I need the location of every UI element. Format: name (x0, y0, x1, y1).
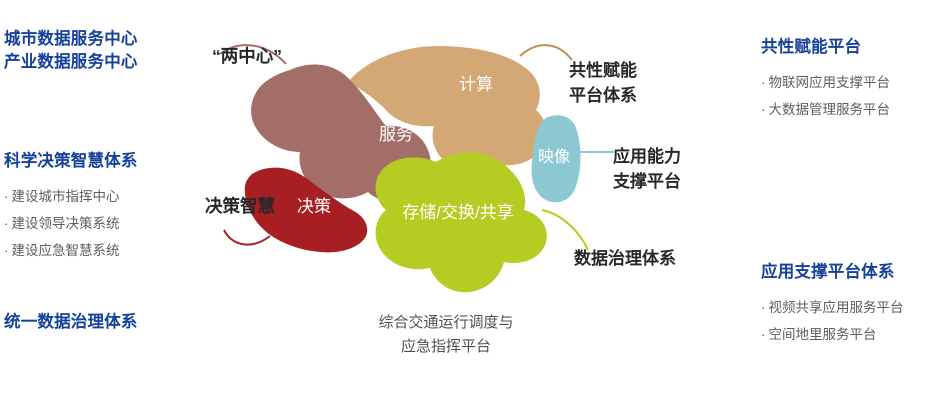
left-column-unified-governance: 统一数据治理体系 (4, 311, 138, 334)
list-item-label: 空间地里服务平台 (769, 327, 877, 342)
list-item: ·建设领导决策系统 (4, 210, 138, 237)
diagram-caption: 综合交通运行调度与 应急指挥平台 (330, 311, 562, 359)
connector-line-compute (520, 45, 572, 60)
bullet-list-enabling: ·物联网应用支撑平台 ·大数据管理服务平台 (761, 69, 890, 123)
list-item: ·视频共享应用服务平台 (761, 294, 904, 321)
callout-decision-wisdom: 决策智慧 (205, 194, 275, 219)
diagram-canvas: 城市数据服务中心 产业数据服务中心 科学决策智慧体系 ·建设城市指挥中心 ·建设… (0, 0, 933, 420)
right-column-app-support-platform: 应用支撑平台体系 ·视频共享应用服务平台 ·空间地里服务平台 (761, 261, 904, 348)
brain-lobe-label-service: 服务 (379, 125, 413, 144)
list-item-label: 建设应急智慧系统 (12, 243, 120, 258)
bullet-dot-icon: · (4, 216, 9, 231)
callout-app-capability-platform: 应用能力 支撑平台 (613, 144, 681, 194)
brain-lobe-label-image: 映像 (538, 148, 570, 166)
list-item-label: 建设城市指挥中心 (12, 189, 120, 204)
heading-app-support-platform-system: 应用支撑平台体系 (761, 261, 904, 284)
brain-lobe-storage[interactable] (376, 153, 547, 293)
caption-line: 应急指挥平台 (330, 335, 562, 359)
left-column-data-centers: 城市数据服务中心 产业数据服务中心 (4, 28, 138, 74)
bullet-dot-icon: · (761, 102, 766, 117)
heading-scientific-decision-system: 科学决策智慧体系 (4, 150, 138, 173)
heading-unified-data-governance: 统一数据治理体系 (4, 311, 138, 334)
list-item: ·建设应急智慧系统 (4, 237, 138, 264)
list-item-label: 物联网应用支撑平台 (769, 75, 891, 90)
bullet-list-app-support: ·视频共享应用服务平台 ·空间地里服务平台 (761, 294, 904, 348)
list-item-label: 视频共享应用服务平台 (769, 300, 904, 315)
bullet-dot-icon: · (761, 300, 766, 315)
brain-lobe-label-storage: 存储/交换/共享 (402, 203, 513, 222)
list-item-label: 大数据管理服务平台 (769, 102, 891, 117)
brain-lobe-label-compute: 计算 (459, 75, 493, 94)
callout-line: 共性赋能 (569, 58, 637, 83)
list-item: ·物联网应用支撑平台 (761, 69, 890, 96)
right-column-enabling-platform: 共性赋能平台 ·物联网应用支撑平台 ·大数据管理服务平台 (761, 36, 890, 123)
left-column-decision-system: 科学决策智慧体系 ·建设城市指挥中心 ·建设领导决策系统 ·建设应急智慧系统 (4, 150, 138, 264)
bullet-dot-icon: · (761, 75, 766, 90)
list-item: ·大数据管理服务平台 (761, 96, 890, 123)
callout-enabling-platform-system: 共性赋能 平台体系 (569, 58, 637, 108)
callout-data-governance-system: 数据治理体系 (574, 246, 676, 271)
bullet-list-decision: ·建设城市指挥中心 ·建设领导决策系统 ·建设应急智慧系统 (4, 183, 138, 264)
connector-line-storage (542, 210, 588, 250)
callout-line: 平台体系 (569, 83, 637, 108)
bullet-dot-icon: · (4, 189, 9, 204)
list-item: ·建设城市指挥中心 (4, 183, 138, 210)
callout-line: 应用能力 (613, 144, 681, 169)
list-item: ·空间地里服务平台 (761, 321, 904, 348)
callout-two-centers: “两中心” (212, 44, 282, 69)
heading-common-enabling-platform: 共性赋能平台 (761, 36, 890, 59)
bullet-dot-icon: · (4, 243, 9, 258)
caption-line: 综合交通运行调度与 (330, 311, 562, 335)
heading-city-data-center: 城市数据服务中心 (4, 28, 138, 51)
heading-industry-data-center: 产业数据服务中心 (4, 51, 138, 74)
brain-lobe-label-decision: 决策 (297, 197, 331, 216)
callout-line: 支撑平台 (613, 169, 681, 194)
list-item-label: 建设领导决策系统 (12, 216, 120, 231)
connector-line-decision (224, 230, 270, 245)
bullet-dot-icon: · (761, 327, 766, 342)
